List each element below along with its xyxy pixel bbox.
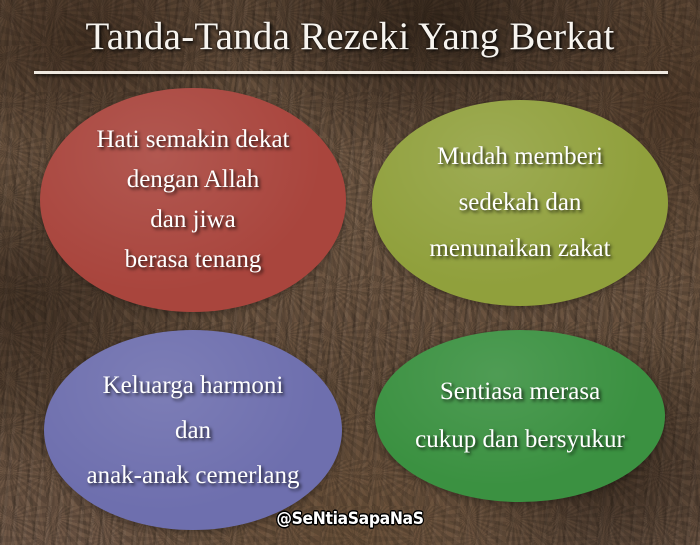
poster-canvas: Tanda-Tanda Rezeki Yang Berkat Hati sema…	[0, 0, 700, 545]
page-title: Tanda-Tanda Rezeki Yang Berkat	[0, 14, 700, 60]
bubble-keluarga: Keluarga harmoni dan anak-anak cemerlang	[44, 330, 342, 530]
bubble-mudah-line-1: Mudah memberi	[437, 134, 603, 180]
bubble-hati-line-2: dengan Allah	[127, 160, 260, 200]
watermark-credit: @SeNtiaSapaNaS	[28, 509, 672, 529]
bubble-hati-line-1: Hati semakin dekat	[97, 120, 290, 160]
bubble-sentiasa: Sentiasa merasa cukup dan bersyukur	[375, 330, 665, 502]
bubble-sentiasa-line-1: Sentiasa merasa	[440, 368, 600, 416]
page-title-text: Tanda-Tanda Rezeki Yang Berkat	[0, 14, 700, 60]
bubble-keluarga-line-3: anak-anak cemerlang	[86, 453, 299, 498]
bubble-keluarga-line-1: Keluarga harmoni	[103, 363, 284, 408]
bubble-hati-line-4: berasa tenang	[125, 240, 262, 280]
bubble-sentiasa-line-2: cukup dan bersyukur	[415, 416, 625, 464]
bubble-mudah-line-2: sedekah dan	[459, 180, 582, 226]
title-underline-rule	[34, 71, 668, 74]
bubble-mudah-line-3: menunaikan zakat	[429, 226, 610, 272]
bubble-hati-line-3: dan jiwa	[150, 200, 235, 240]
bubble-keluarga-line-2: dan	[175, 408, 211, 453]
bubble-mudah: Mudah memberi sedekah dan menunaikan zak…	[372, 100, 668, 306]
bubble-hati: Hati semakin dekat dengan Allah dan jiwa…	[40, 88, 346, 312]
